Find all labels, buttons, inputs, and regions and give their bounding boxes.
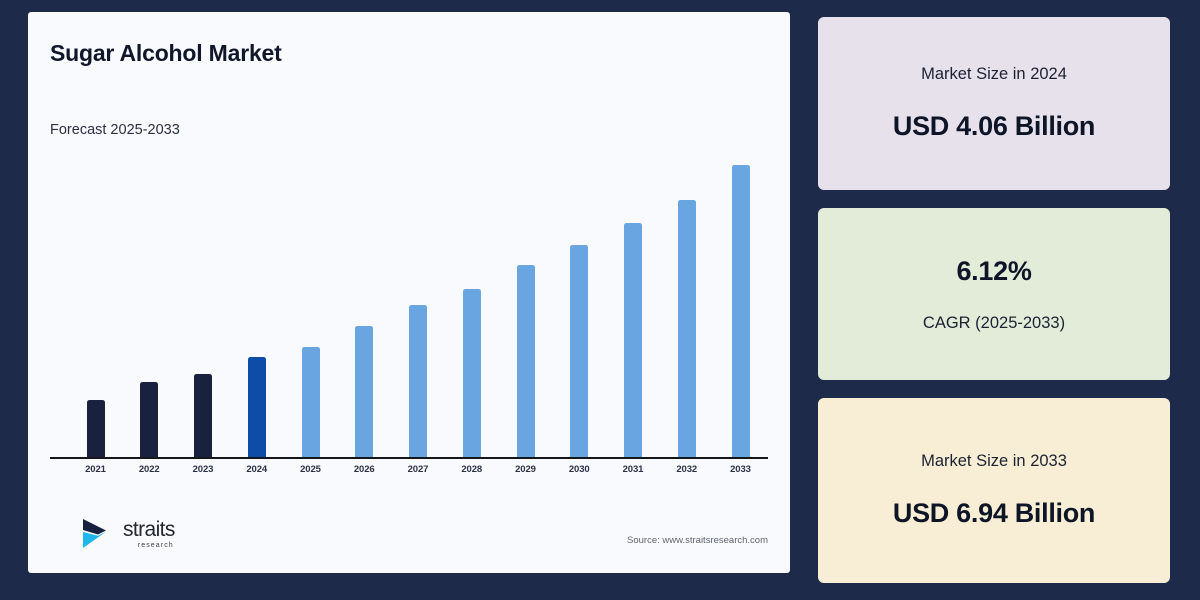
- infographic-page: Sugar Alcohol Market Forecast 2025-2033 …: [0, 0, 1200, 600]
- bar-2031: [624, 223, 642, 457]
- x-tick-2033: 2033: [723, 464, 758, 475]
- x-axis-line: [50, 457, 768, 459]
- stat-panel-value: USD 6.94 Billion: [893, 498, 1095, 529]
- stat-panel-market-size-2033: Market Size in 2033 USD 6.94 Billion: [818, 398, 1170, 583]
- stat-panel-value: 6.12%: [956, 256, 1031, 287]
- stat-panel-cagr: 6.12% CAGR (2025-2033): [818, 208, 1170, 380]
- bar-2025: [302, 347, 320, 457]
- stat-panel-label: CAGR (2025-2033): [923, 314, 1065, 333]
- logo-arrow-icon: [80, 517, 116, 551]
- bar-slot: [347, 152, 382, 457]
- bar-slot: [78, 152, 113, 457]
- bar-slot: [723, 152, 758, 457]
- bar-slot: [132, 152, 167, 457]
- x-tick-2022: 2022: [132, 464, 167, 475]
- bar-slot: [616, 152, 651, 457]
- bar-chart-plot-area: [50, 152, 768, 457]
- logo-word: straits: [123, 519, 175, 540]
- bar-slot: [454, 152, 489, 457]
- x-tick-2021: 2021: [78, 464, 113, 475]
- bar-2033: [732, 165, 750, 457]
- x-tick-2024: 2024: [239, 464, 274, 475]
- bar-2026: [355, 326, 373, 457]
- chart-card: Sugar Alcohol Market Forecast 2025-2033 …: [28, 12, 790, 573]
- straits-research-logo: straits research: [80, 517, 175, 551]
- stat-panel-label: Market Size in 2024: [921, 65, 1067, 84]
- x-tick-2032: 2032: [669, 464, 704, 475]
- bar-slot: [239, 152, 274, 457]
- x-tick-2028: 2028: [454, 464, 489, 475]
- x-tick-2029: 2029: [508, 464, 543, 475]
- bar-2028: [463, 289, 481, 457]
- x-tick-2027: 2027: [401, 464, 436, 475]
- bar-slot: [562, 152, 597, 457]
- logo-subword: research: [123, 542, 174, 549]
- bar-slot: [293, 152, 328, 457]
- page-title: Sugar Alcohol Market: [50, 40, 282, 67]
- bar-2029: [517, 265, 535, 457]
- bar-2022: [140, 382, 158, 457]
- bar-2030: [570, 245, 588, 457]
- x-tick-2026: 2026: [347, 464, 382, 475]
- stat-panel-label: Market Size in 2033: [921, 452, 1067, 471]
- x-tick-2023: 2023: [186, 464, 221, 475]
- bar-slot: [186, 152, 221, 457]
- bar-slot: [669, 152, 704, 457]
- bar-2027: [409, 305, 427, 457]
- bar-slot: [401, 152, 436, 457]
- stat-panel-value: USD 4.06 Billion: [893, 111, 1095, 142]
- bar-2021: [87, 400, 105, 457]
- logo-wordmark: straits research: [123, 519, 175, 549]
- chart-subtitle: Forecast 2025-2033: [50, 122, 180, 138]
- x-axis-tick-labels: 2021202220232024202520262027202820292030…: [78, 464, 758, 475]
- source-attribution: Source: www.straitsresearch.com: [627, 535, 768, 546]
- x-tick-2031: 2031: [616, 464, 651, 475]
- bar-2023: [194, 374, 212, 457]
- stat-panel-market-size-2024: Market Size in 2024 USD 4.06 Billion: [818, 17, 1170, 190]
- x-tick-2025: 2025: [293, 464, 328, 475]
- bar-2024: [248, 357, 266, 457]
- bar-2032: [678, 200, 696, 457]
- x-tick-2030: 2030: [562, 464, 597, 475]
- bar-slot: [508, 152, 543, 457]
- bar-series-container: [78, 152, 758, 457]
